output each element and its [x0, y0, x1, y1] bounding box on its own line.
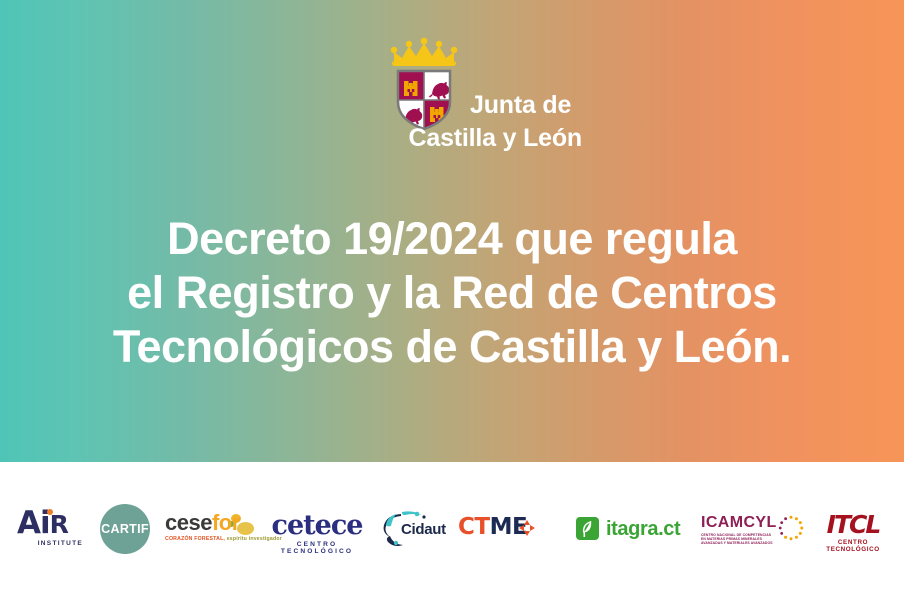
cesefor-tagline: CORAZÓN FORESTAL, espíritu investigador — [165, 536, 282, 542]
ctme-wordmark-part1: CT — [458, 514, 490, 540]
cesefor-wordmark-part2: for — [212, 510, 240, 535]
junta-wordmark: Junta de Castilla y León — [382, 32, 582, 156]
air-institute-wordmark: AiR — [17, 508, 68, 540]
icamcyl-wordmark: ICAMCYL — [701, 515, 777, 531]
logo-itcl: ITCL CENTRO TECNOLÓGICO — [812, 462, 894, 595]
page-title-line3: Tecnológicos de Castilla y León. — [40, 320, 864, 374]
cesefor-tagline-part1: CORAZÓN FORESTAL, — [165, 536, 225, 542]
page-title-line1: Decreto 19/2024 que regula — [40, 212, 864, 266]
icamcyl-tagline: CENTRO NACIONAL DE COMPETENCIAS EN MATER… — [701, 533, 775, 546]
ctme-dots-icon — [518, 519, 538, 539]
itagra-wordmark: itagra.ct — [606, 519, 680, 539]
logo-cetece: cetece CENTRO TECNOLÓGICO — [266, 462, 368, 595]
logo-ctme: CTME — [455, 462, 545, 595]
cetece-wordmark: cetece — [268, 512, 366, 539]
page-title-line2: el Registro y la Red de Centros — [40, 266, 864, 320]
cartif-circle-mark: CARTIF — [100, 504, 150, 554]
air-letter-r: R — [50, 510, 68, 539]
logo-cartif: CARTIF — [99, 462, 151, 595]
logo-cidaut: Cidaut — [374, 462, 450, 595]
slide-root: Junta de Castilla y León Decreto 19/2024… — [0, 0, 904, 595]
air-institute-dot-icon — [47, 509, 53, 515]
logo-cesefor: cesefor CORAZÓN FORESTAL, espíritu inves… — [163, 462, 259, 595]
cidaut-wordmark: Cidaut — [401, 521, 446, 538]
icamcyl-ring-icon — [777, 514, 805, 542]
logo-air-institute: AiR INSTITUTE — [11, 462, 89, 595]
logo-itagra-ct: itagra.ct — [570, 462, 680, 595]
cartif-wordmark: CARTIF — [101, 522, 149, 536]
page-title: Decreto 19/2024 que regula el Registro y… — [40, 212, 864, 374]
junta-wordmark-line1: Junta de — [470, 90, 571, 120]
cetece-tagline: CENTRO TECNOLÓGICO — [268, 541, 366, 555]
junta-castilla-y-leon-logo: Junta de Castilla y León — [382, 32, 582, 156]
itcl-wordmark: ITCL — [814, 512, 892, 537]
cesefor-wordmark-part1: cese — [165, 510, 212, 535]
ctme-wordmark: CTME — [458, 516, 527, 539]
cesefor-wordmark: cesefor — [165, 512, 240, 534]
air-institute-tagline: INSTITUTE — [38, 540, 83, 547]
partner-logo-strip: AiR INSTITUTE CARTIF cesefor CORAZÓN FOR… — [0, 462, 904, 595]
itagra-leaf-icon — [576, 517, 599, 540]
itcl-tagline: CENTRO TECNOLÓGICO — [814, 539, 892, 553]
junta-wordmark-line2: Castilla y León — [382, 123, 582, 153]
logo-icamcyl: ICAMCYL CENTRO NACIONAL DE COMPETENCIAS … — [698, 462, 808, 595]
itagra-badge-icon — [576, 517, 599, 540]
air-letter-a: A — [17, 505, 40, 541]
